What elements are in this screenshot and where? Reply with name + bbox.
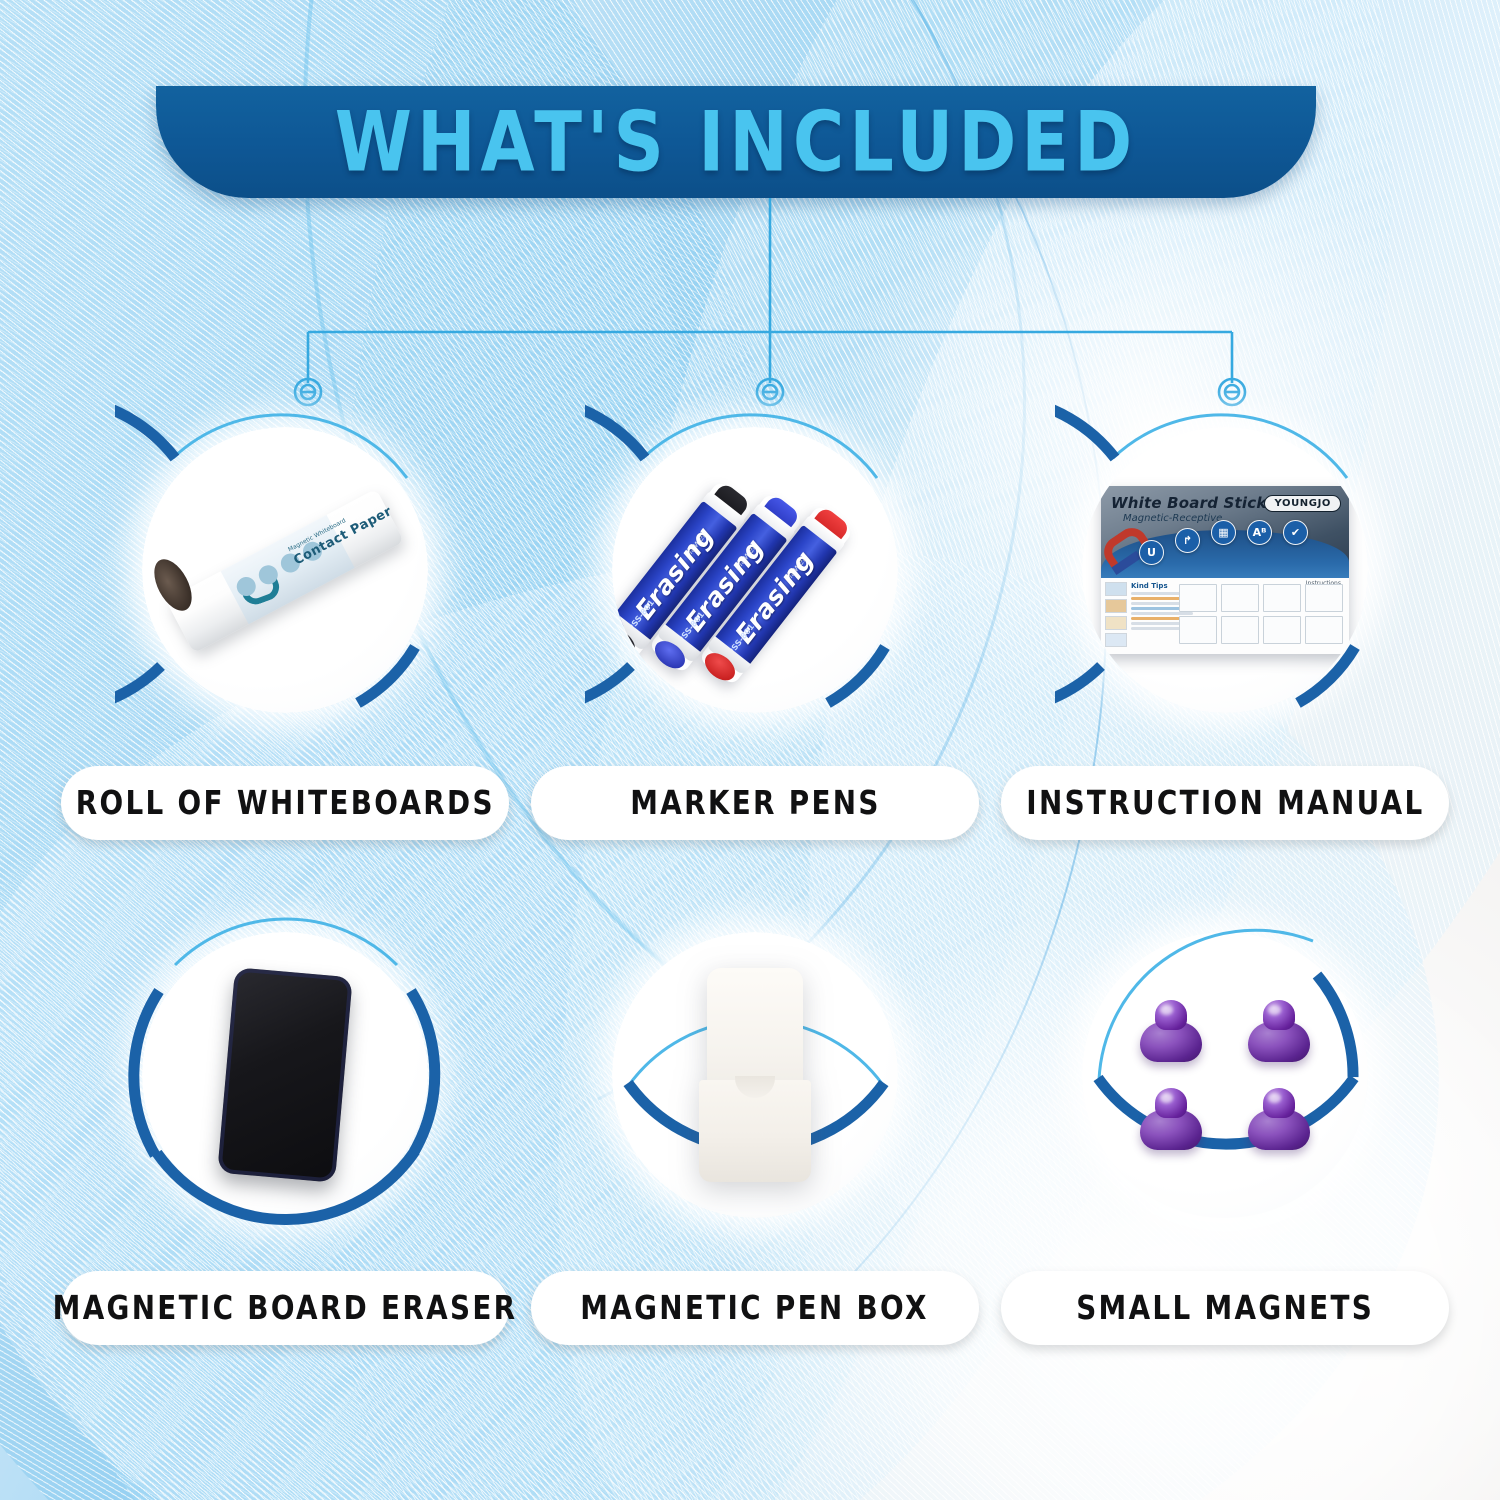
instruction-manual-icon: White Board Sticker Magnetic-Receptive Y…	[1082, 427, 1368, 713]
item-card-instruction-manual[interactable]: White Board Sticker Magnetic-Receptive Y…	[995, 400, 1455, 840]
item-label-pill[interactable]: ROLL OF WHITEBOARDS	[61, 766, 509, 840]
item-label-pill[interactable]: SMALL MAGNETS	[1001, 1271, 1449, 1345]
item-card-magnetic-board-eraser[interactable]: MAGNETIC BOARD ERASER	[55, 905, 515, 1345]
magnet-piece	[1248, 1000, 1310, 1062]
item-card-marker-pens[interactable]: Jiawei Erasing PSS-801 Jiawei	[525, 400, 985, 840]
item-circle	[115, 905, 455, 1245]
item-circle: White Board Sticker Magnetic-Receptive Y…	[1055, 400, 1395, 740]
whiteboard-roll-icon: Magnetic Whiteboard Contact Paper	[142, 427, 428, 713]
small-magnets-icon	[1082, 932, 1368, 1218]
item-label-text: MAGNETIC BOARD ERASER	[53, 1289, 518, 1327]
item-circle: Magnetic Whiteboard Contact Paper	[115, 400, 455, 740]
feature-badge: U	[1139, 540, 1164, 565]
item-label-text: INSTRUCTION MANUAL	[1026, 784, 1424, 822]
board-eraser-icon	[142, 932, 428, 1218]
item-circle: Jiawei Erasing PSS-801 Jiawei	[585, 400, 925, 740]
item-label-pill[interactable]: MARKER PENS	[531, 766, 979, 840]
item-label-pill[interactable]: MAGNETIC PEN BOX	[531, 1271, 979, 1345]
infographic-canvas: WHAT'S INCLUDED	[0, 0, 1500, 1500]
item-label-text: SMALL MAGNETS	[1076, 1289, 1374, 1327]
manual-brand-logo: YOUNGJO	[1264, 495, 1341, 512]
magnet-piece	[1140, 1000, 1202, 1062]
item-circle	[585, 905, 925, 1245]
item-card-magnetic-pen-box[interactable]: MAGNETIC PEN BOX	[525, 905, 985, 1345]
feature-badge: ✔	[1283, 520, 1308, 545]
feature-badge: Aᴮ	[1247, 520, 1272, 545]
feature-badge: ↱	[1175, 528, 1200, 553]
item-label-text: MAGNETIC PEN BOX	[581, 1289, 930, 1327]
manual-subtitle: Magnetic-Receptive	[1123, 513, 1222, 524]
item-label-text: MARKER PENS	[630, 784, 881, 822]
item-card-roll-of-whiteboards[interactable]: Magnetic Whiteboard Contact Paper ROLL O…	[55, 400, 515, 840]
feature-badge: ▦	[1211, 520, 1236, 545]
manual-color-swatches	[1105, 582, 1127, 650]
items-grid: Magnetic Whiteboard Contact Paper ROLL O…	[0, 0, 1500, 1500]
manual-feature-badges: U ↱ ▦ Aᴮ ✔	[1139, 540, 1308, 565]
item-card-small-magnets[interactable]: SMALL MAGNETS	[995, 905, 1455, 1345]
item-label-pill[interactable]: INSTRUCTION MANUAL	[1001, 766, 1449, 840]
item-label-pill[interactable]: MAGNETIC BOARD ERASER	[61, 1271, 509, 1345]
manual-title: White Board Sticker	[1111, 494, 1284, 512]
pen-box-icon	[612, 932, 898, 1218]
manual-step-diagrams	[1179, 584, 1343, 644]
item-circle	[1055, 905, 1395, 1245]
marker-pens-icon: Jiawei Erasing PSS-801 Jiawei	[612, 427, 898, 713]
magnet-piece	[1140, 1088, 1202, 1150]
magnet-piece	[1248, 1088, 1310, 1150]
item-label-text: ROLL OF WHITEBOARDS	[75, 784, 494, 822]
